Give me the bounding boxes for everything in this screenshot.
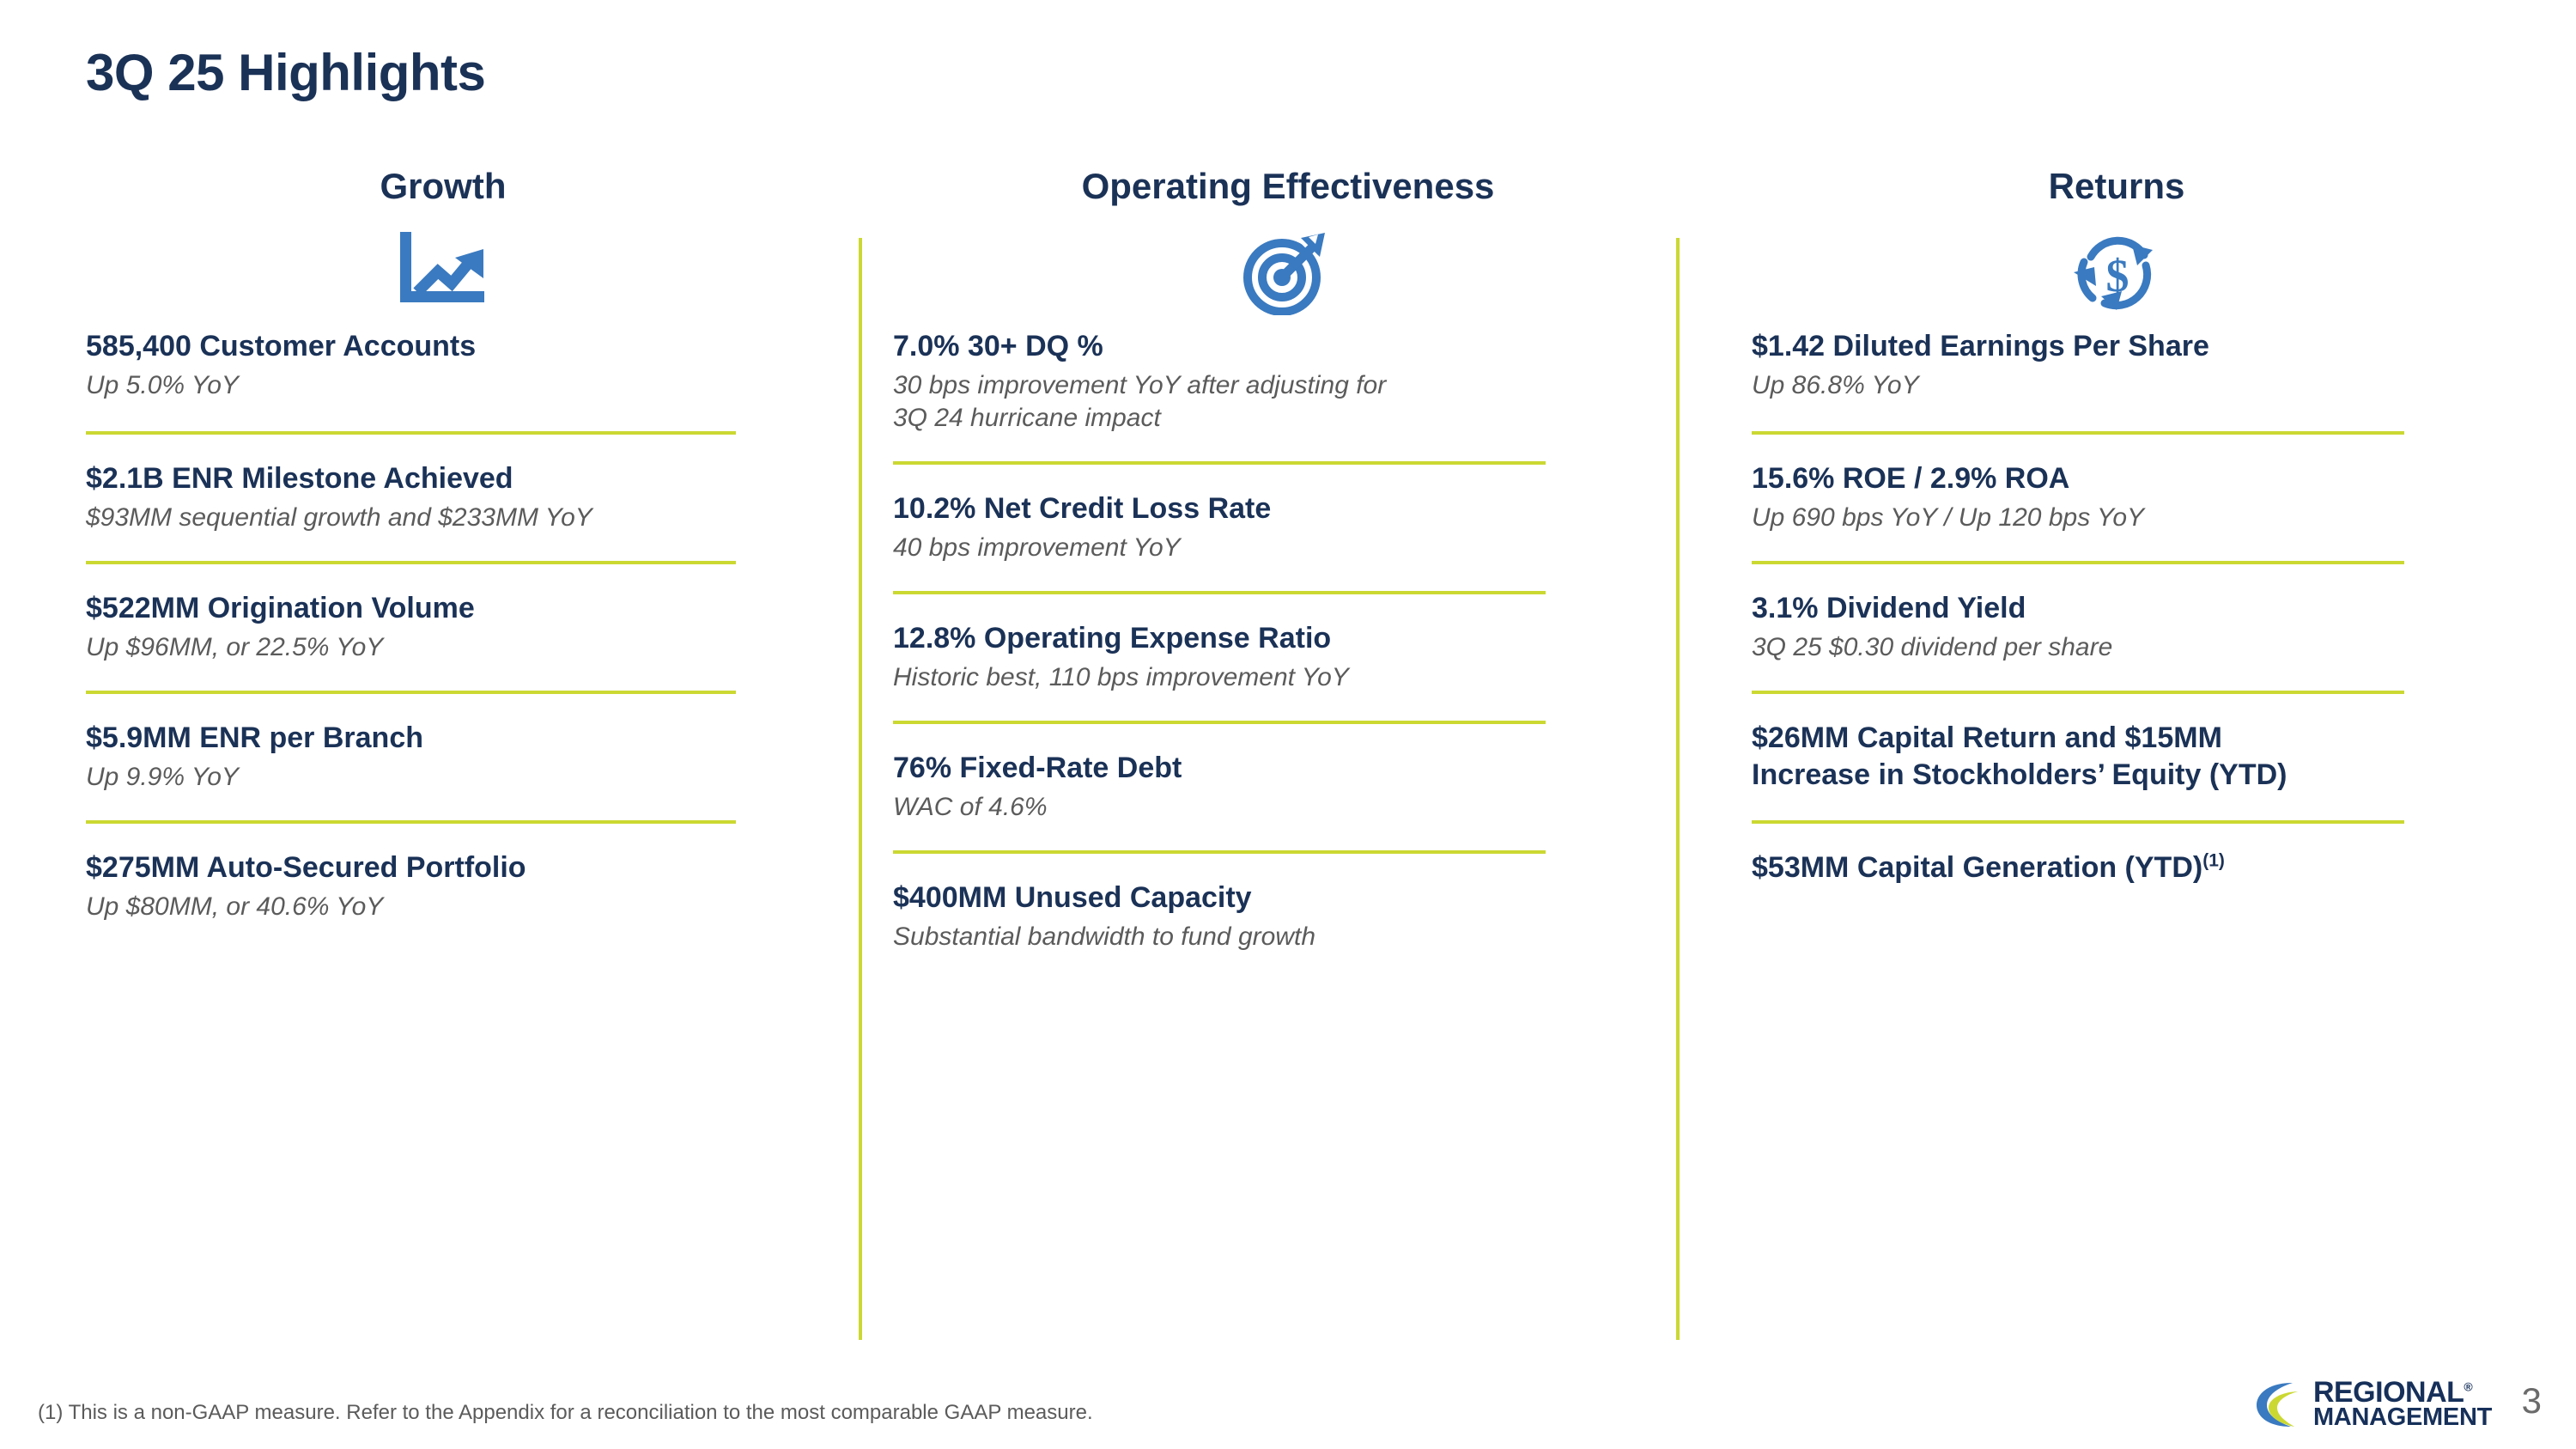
highlight-subtext: Up 86.8% YoY xyxy=(1752,369,2507,402)
highlights-columns: Growth 585,400 Customer Accounts Up 5.0%… xyxy=(0,163,2576,1349)
highlight-subtext: Up 5.0% YoY xyxy=(86,369,824,402)
highlight-item: $400MM Unused Capacity Substantial bandw… xyxy=(893,854,1683,953)
page-title: 3Q 25 Highlights xyxy=(86,43,485,102)
highlight-item: 15.6% ROE / 2.9% ROA Up 690 bps YoY / Up… xyxy=(1752,435,2507,534)
highlight-title: $53MM Capital Generation (YTD)(1) xyxy=(1752,849,2507,886)
highlight-title: 76% Fixed-Rate Debt xyxy=(893,750,1683,787)
column-heading-growth: Growth xyxy=(86,163,824,216)
highlight-item: 10.2% Net Credit Loss Rate 40 bps improv… xyxy=(893,465,1683,564)
logo-top-text: REGIONAL® xyxy=(2313,1379,2492,1406)
growth-chart-icon xyxy=(86,216,824,328)
highlight-title: 7.0% 30+ DQ % xyxy=(893,328,1683,365)
highlight-item: $275MM Auto-Secured Portfolio Up $80MM, … xyxy=(86,824,824,923)
logo-wordmark: REGIONAL® MANAGEMENT xyxy=(2313,1379,2492,1429)
highlight-subtext: WAC of 4.6% xyxy=(893,791,1683,824)
footnote-text: (1) This is a non-GAAP measure. Refer to… xyxy=(38,1401,1093,1425)
highlight-item: $1.42 Diluted Earnings Per Share Up 86.8… xyxy=(1752,328,2507,431)
highlight-item: $522MM Origination Volume Up $96MM, or 2… xyxy=(86,564,824,664)
highlight-subtext: Up $80MM, or 40.6% YoY xyxy=(86,891,824,923)
column-growth: Growth 585,400 Customer Accounts Up 5.0%… xyxy=(86,163,824,1349)
highlight-subtext: Historic best, 110 bps improvement YoY xyxy=(893,661,1683,694)
highlight-item: 76% Fixed-Rate Debt WAC of 4.6% xyxy=(893,724,1683,824)
items-returns: $1.42 Diluted Earnings Per Share Up 86.8… xyxy=(1752,328,2507,886)
highlight-title-text: $53MM Capital Generation (YTD) xyxy=(1752,851,2202,884)
items-operating-effectiveness: 7.0% 30+ DQ % 30 bps improvement YoY aft… xyxy=(893,328,1683,953)
highlight-subtext: 3Q 25 $0.30 dividend per share xyxy=(1752,631,2507,664)
target-bullseye-icon xyxy=(893,216,1683,328)
highlight-title: 3.1% Dividend Yield xyxy=(1752,590,2507,627)
registered-trademark-icon: ® xyxy=(2464,1380,2472,1394)
highlight-item: $53MM Capital Generation (YTD)(1) xyxy=(1752,824,2507,886)
footnote-marker: (1) xyxy=(2202,851,2225,871)
column-returns: Returns $ $1.42 Diluted Earnings Per Sha… xyxy=(1752,163,2507,1349)
highlight-subtext: Up 690 bps YoY / Up 120 bps YoY xyxy=(1752,502,2507,534)
highlight-title: 10.2% Net Credit Loss Rate xyxy=(893,490,1683,527)
highlight-title: $2.1B ENR Milestone Achieved xyxy=(86,460,824,497)
highlight-title: 15.6% ROE / 2.9% ROA xyxy=(1752,460,2507,497)
highlight-title: $5.9MM ENR per Branch xyxy=(86,720,824,757)
logo-bottom-label: MANAGEMENT xyxy=(2313,1406,2492,1429)
company-logo: REGIONAL® MANAGEMENT xyxy=(2253,1378,2492,1431)
page-number: 3 xyxy=(2522,1380,2542,1422)
highlight-title: $522MM Origination Volume xyxy=(86,590,824,627)
highlight-item: 585,400 Customer Accounts Up 5.0% YoY xyxy=(86,328,824,431)
highlight-title: $26MM Capital Return and $15MM Increase … xyxy=(1752,720,2507,794)
svg-text:$: $ xyxy=(2106,250,2129,301)
highlight-item: $5.9MM ENR per Branch Up 9.9% YoY xyxy=(86,694,824,794)
highlight-item: 7.0% 30+ DQ % 30 bps improvement YoY aft… xyxy=(893,328,1683,461)
highlight-title: 585,400 Customer Accounts xyxy=(86,328,824,365)
highlight-subtext: $93MM sequential growth and $233MM YoY xyxy=(86,502,824,534)
highlight-item: 3.1% Dividend Yield 3Q 25 $0.30 dividend… xyxy=(1752,564,2507,664)
column-heading-returns: Returns xyxy=(1752,163,2507,216)
column-operating-effectiveness: Operating Effectiveness 7.0% 30+ DQ % 30… xyxy=(893,163,1683,1349)
highlight-title: $1.42 Diluted Earnings Per Share xyxy=(1752,328,2507,365)
items-growth: 585,400 Customer Accounts Up 5.0% YoY $2… xyxy=(86,328,824,923)
highlight-subtext: Up $96MM, or 22.5% YoY xyxy=(86,631,824,664)
highlight-item: $2.1B ENR Milestone Achieved $93MM seque… xyxy=(86,435,824,534)
highlight-subtext: Up 9.9% YoY xyxy=(86,761,824,794)
dollar-recycle-icon: $ xyxy=(1752,216,2507,328)
highlight-item: 12.8% Operating Expense Ratio Historic b… xyxy=(893,594,1683,694)
highlight-title: $400MM Unused Capacity xyxy=(893,880,1683,916)
highlight-subtext: 40 bps improvement YoY xyxy=(893,532,1683,564)
highlight-subtext: Substantial bandwidth to fund growth xyxy=(893,921,1683,953)
highlight-item: $26MM Capital Return and $15MM Increase … xyxy=(1752,694,2507,797)
highlight-title: 12.8% Operating Expense Ratio xyxy=(893,620,1683,657)
logo-mark: REGIONAL® MANAGEMENT xyxy=(2253,1378,2492,1431)
logo-swoosh-icon xyxy=(2253,1378,2308,1431)
highlight-subtext: 30 bps improvement YoY after adjusting f… xyxy=(893,369,1683,435)
column-heading-operating-effectiveness: Operating Effectiveness xyxy=(893,163,1683,216)
highlight-title: $275MM Auto-Secured Portfolio xyxy=(86,849,824,886)
